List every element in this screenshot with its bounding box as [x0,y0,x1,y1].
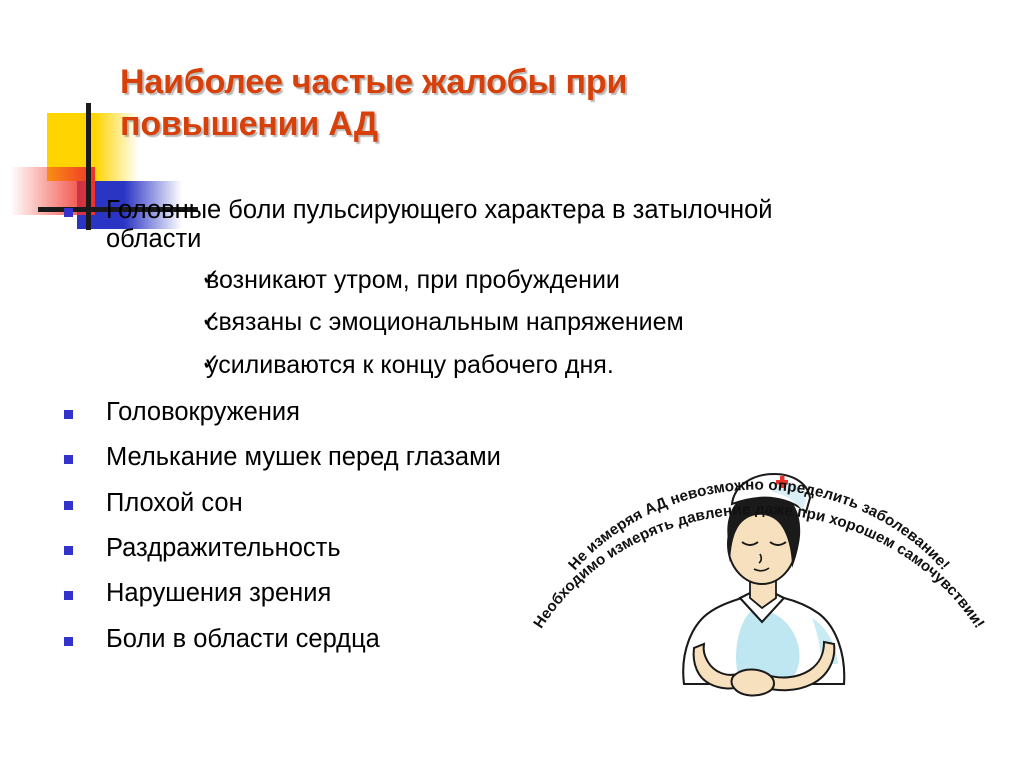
bullet-item-heart-pain: Боли в области сердца [56,625,956,654]
checkmark-icon: ✓ [201,306,220,334]
bullet-item-dizziness: Головокружения [56,398,956,427]
slide-title-line-1: Наиболее частые жалобы при [120,61,760,103]
sub-bullet-morning: ✓ возникают утром, при пробуждении [56,265,956,296]
bullet-item-vision-problems: Нарушения зрения [56,579,956,608]
bullet-item-headache: Головные боли пульсирующего характера в … [56,196,866,255]
blue-square-bullet-icon [64,208,73,217]
bullet-item-label: Раздражительность [106,534,341,562]
blue-square-bullet-icon [64,546,73,555]
bullet-item-label: Нарушения зрения [106,579,331,607]
simple-bullet-group: Головокружения Мелькание мушек перед гла… [56,398,956,654]
slide-title-line-2: повышении АД [120,103,760,145]
bullet-item-label: Головокружения [106,398,300,426]
bullet-item-floaters: Мелькание мушек перед глазами [56,443,956,472]
blue-square-bullet-icon [64,501,73,510]
nurse-hands [732,670,774,696]
blue-square-bullet-icon [64,591,73,600]
slide-title: Наиболее частые жалобы при повышении АД [120,61,760,145]
bullet-item-poor-sleep: Плохой сон [56,489,956,518]
content-bullet-list: Головные боли пульсирующего характера в … [56,196,956,670]
bullet-item-label: Боли в области сердца [106,625,380,653]
slide-canvas: Наиболее частые жалобы при повышении АД … [0,0,1024,767]
sub-bullet-label: связаны с эмоциональным напряжением [206,308,684,336]
sub-bullet-emotional: ✓ связаны с эмоциональным напряжением [56,307,956,338]
blue-square-bullet-icon [64,455,73,464]
sub-bullet-end-of-day: ✓ усиливаются к концу рабочего дня. [56,350,956,381]
bullet-item-label: Плохой сон [106,489,243,517]
checkmark-sublist: ✓ возникают утром, при пробуждении ✓ свя… [56,265,956,381]
checkmark-icon: ✓ [201,264,220,292]
sub-bullet-label: возникают утром, при пробуждении [206,266,620,294]
blue-square-bullet-icon [64,637,73,646]
bullet-item-label: Головные боли пульсирующего характера в … [106,196,773,253]
bullet-item-irritability: Раздражительность [56,534,956,563]
sub-bullet-label: усиливаются к концу рабочего дня. [206,351,614,379]
bullet-item-label: Мелькание мушек перед глазами [106,443,501,471]
blue-square-bullet-icon [64,410,73,419]
checkmark-icon: ✓ [201,349,220,377]
